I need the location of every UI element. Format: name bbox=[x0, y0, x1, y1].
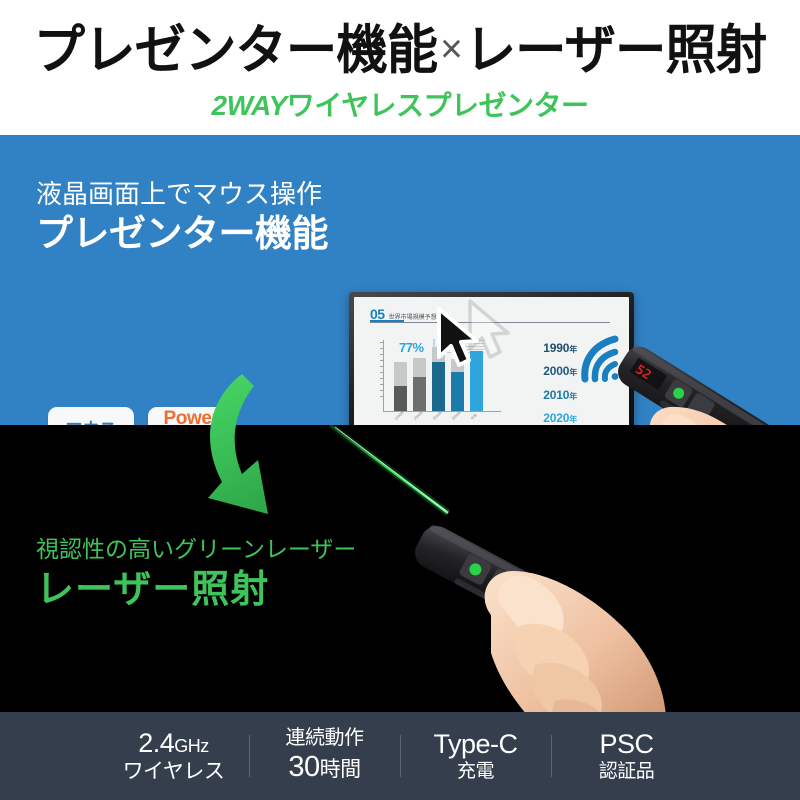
slide-rule-accent bbox=[370, 320, 404, 322]
header-band: プレゼンター機能×レーザー照射 2WAYワイヤレスプレゼンター bbox=[0, 0, 800, 135]
badge-mouse-operation: マウス操作 bbox=[48, 407, 134, 425]
spec-line-1: 連続動作 bbox=[250, 727, 400, 750]
chart-bar-segment-bottom bbox=[413, 377, 426, 411]
laser-copy-block: 視認性の高いグリーンレーザー レーザー照射 bbox=[36, 537, 356, 614]
chart-bar bbox=[413, 358, 426, 411]
presenter-copy-block: 液晶画面上でマウス操作 プレゼンター機能 bbox=[36, 180, 328, 255]
television: 05 世界市場規模予想 77% 1990年2000年20 bbox=[349, 292, 634, 425]
chart-bar bbox=[394, 362, 407, 411]
headline-part2: レーザー照射 bbox=[465, 21, 767, 80]
laser-feature-panel: 視認性の高いグリーンレーザー レーザー照射 bbox=[0, 425, 800, 712]
advertisement-page: プレゼンター機能×レーザー照射 2WAYワイヤレスプレゼンター 液晶画面上でマウ… bbox=[0, 0, 800, 800]
chart-bar-segment-top bbox=[394, 362, 407, 385]
subtitle-jp: ワイヤレスプレゼンター bbox=[287, 90, 589, 121]
spec-line-2: 30時間 bbox=[250, 751, 400, 784]
laser-lead-text: 視認性の高いグリーンレーザー bbox=[36, 537, 356, 562]
chart-y-ticks bbox=[380, 342, 384, 402]
spec-charging: Type-C充電 bbox=[401, 729, 551, 783]
spec-line-2: ワイヤレス bbox=[99, 760, 249, 784]
spec-line-1: 2.4GHz bbox=[99, 728, 249, 759]
chart-category-labels: 1990年2000年2010年2020年予想 bbox=[394, 418, 483, 423]
spec-line-1: Type-C bbox=[401, 729, 551, 760]
year-suffix: 年 bbox=[569, 415, 577, 424]
headline-part1: プレゼンター機能 bbox=[34, 21, 438, 80]
subtitle-en: 2WAY bbox=[212, 90, 287, 121]
tv-screen: 05 世界市場規模予想 77% 1990年2000年20 bbox=[354, 297, 629, 425]
presenter-lead-text: 液晶画面上でマウス操作 bbox=[36, 180, 328, 209]
page-subtitle: 2WAYワイヤレスプレゼンター bbox=[0, 84, 800, 124]
mouse-cursor-icon[interactable] bbox=[433, 307, 485, 369]
chart-bar-segment-bottom bbox=[394, 386, 407, 411]
spec-number: 30 bbox=[288, 751, 319, 783]
page-title: プレゼンター機能×レーザー照射 bbox=[12, 8, 788, 84]
spec-wireless: 2.4GHzワイヤレス bbox=[99, 728, 249, 784]
spec-footer: 2.4GHzワイヤレス連続動作30時間Type-C充電PSC認証品 bbox=[0, 712, 800, 800]
spec-battery-life: 連続動作30時間 bbox=[250, 727, 400, 784]
laser-title-text: レーザー照射 bbox=[36, 568, 356, 614]
hand-holding-presenter-lower bbox=[395, 485, 725, 712]
spec-unit: 時間 bbox=[320, 758, 361, 781]
chart-bar-segment-top bbox=[413, 358, 426, 377]
year-suffix: 年 bbox=[569, 392, 577, 401]
chart-bar-segment-bottom bbox=[451, 372, 464, 411]
spec-certification: PSC認証品 bbox=[552, 729, 702, 783]
times-symbol-icon: × bbox=[437, 27, 465, 71]
hand-holding-presenter-upper: 52 bbox=[600, 325, 800, 425]
year-legend-item: 2020年 bbox=[543, 407, 577, 425]
presenter-title-text: プレゼンター機能 bbox=[36, 213, 328, 256]
spec-unit: GHz bbox=[174, 736, 209, 756]
green-down-arrow bbox=[196, 372, 326, 522]
chart-bar-segment-bottom bbox=[432, 362, 445, 411]
spec-line-2: 充電 bbox=[401, 761, 551, 783]
presenter-feature-panel: 液晶画面上でマウス操作 プレゼンター機能 05 世界市場規模予想 77% bbox=[0, 135, 800, 425]
spec-line-1: PSC bbox=[552, 729, 702, 760]
spec-line-2: 認証品 bbox=[552, 761, 702, 783]
year-legend-item: 2010年 bbox=[543, 384, 577, 407]
